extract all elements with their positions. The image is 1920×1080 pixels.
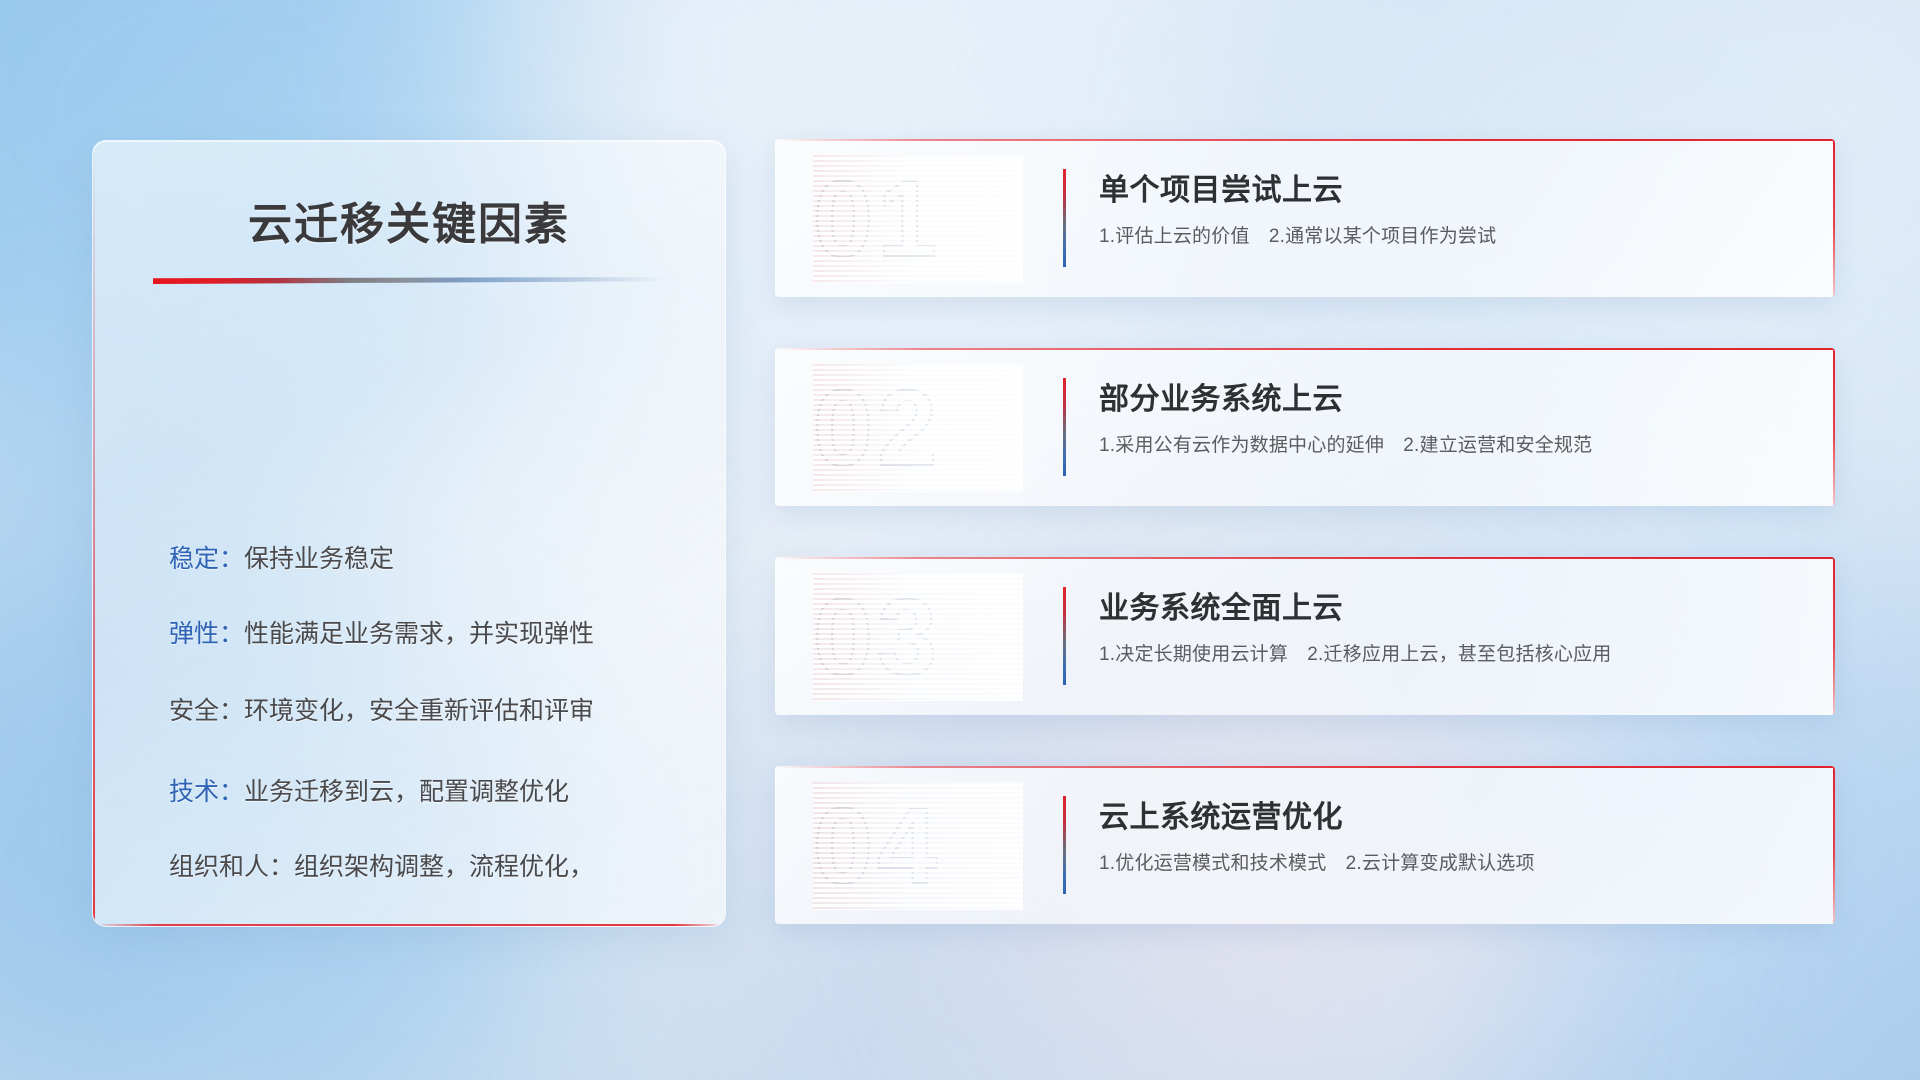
factor-row: 安全：环境变化，安全重新评估和评审 bbox=[169, 691, 689, 727]
card-top-edge bbox=[775, 557, 1835, 559]
factor-label: 组织和人： bbox=[169, 853, 294, 881]
step-title: 部分业务系统上云 bbox=[1099, 374, 1343, 418]
step-card[interactable]: 04 云上系统运营优化 1.优化运营模式和技术模式 2.云计算变成默认选项 bbox=[775, 766, 1835, 924]
step-number-watermark: 01 bbox=[813, 155, 1023, 283]
key-factors-panel: 云迁移关键因素 稳定：保持业务稳定 弹性：性能满足业务需求，并实现弹性 安全：环… bbox=[92, 140, 726, 927]
card-left-edge bbox=[775, 139, 776, 297]
step-card[interactable]: 03 业务系统全面上云 1.决定长期使用云计算 2.迁移应用上云，甚至包括核心应… bbox=[775, 557, 1835, 715]
page-title: 云迁移关键因素 bbox=[93, 188, 725, 252]
factor-text: 组织架构调整，流程优化， bbox=[294, 853, 594, 881]
card-top-edge bbox=[775, 139, 1835, 141]
title-divider-bar bbox=[153, 277, 665, 284]
slide-canvas: 云迁移关键因素 稳定：保持业务稳定 弹性：性能满足业务需求，并实现弹性 安全：环… bbox=[0, 0, 1920, 1080]
factor-text: 环境变化，安全重新评估和评审 bbox=[244, 697, 594, 725]
step-title: 业务系统全面上云 bbox=[1099, 583, 1343, 627]
step-number-watermark: 02 bbox=[813, 364, 1023, 492]
step-description: 1.采用公有云作为数据中心的延伸 2.建立运营和安全规范 bbox=[1099, 430, 1592, 457]
step-number-watermark: 04 bbox=[813, 782, 1023, 910]
factor-label: 稳定： bbox=[169, 545, 244, 573]
card-left-edge bbox=[775, 557, 776, 715]
card-left-edge bbox=[775, 766, 776, 924]
step-number-text: 02 bbox=[813, 367, 941, 488]
step-description: 1.优化运营模式和技术模式 2.云计算变成默认选项 bbox=[1099, 848, 1535, 875]
card-left-edge bbox=[775, 348, 776, 506]
step-number-watermark: 03 bbox=[813, 573, 1023, 701]
card-right-edge bbox=[1833, 348, 1835, 506]
step-accent-bar bbox=[1063, 169, 1066, 267]
step-accent-bar bbox=[1063, 378, 1066, 476]
step-accent-bar bbox=[1063, 587, 1066, 685]
step-number-text: 03 bbox=[813, 576, 941, 697]
factor-text: 业务迁移到云，配置调整优化 bbox=[244, 778, 569, 806]
step-description: 1.评估上云的价值 2.通常以某个项目作为尝试 bbox=[1099, 221, 1496, 248]
factor-label: 技术： bbox=[169, 778, 244, 806]
card-top-edge bbox=[775, 766, 1835, 768]
step-accent-bar bbox=[1063, 796, 1066, 894]
factor-label: 安全： bbox=[169, 697, 244, 725]
card-right-edge bbox=[1833, 139, 1835, 297]
step-card[interactable]: 01 单个项目尝试上云 1.评估上云的价值 2.通常以某个项目作为尝试 bbox=[775, 139, 1835, 297]
step-title: 云上系统运营优化 bbox=[1099, 792, 1343, 836]
factor-row: 组织和人：组织架构调整，流程优化， bbox=[169, 847, 689, 883]
factor-row: 弹性：性能满足业务需求，并实现弹性 bbox=[169, 614, 689, 650]
step-number-text: 04 bbox=[813, 785, 941, 906]
card-top-edge bbox=[775, 348, 1835, 350]
card-right-edge bbox=[1833, 557, 1835, 715]
factor-row: 稳定：保持业务稳定 bbox=[169, 539, 689, 575]
factor-row: 技术：业务迁移到云，配置调整优化 bbox=[169, 772, 689, 808]
factor-text: 保持业务稳定 bbox=[244, 545, 394, 573]
step-title: 单个项目尝试上云 bbox=[1099, 165, 1343, 209]
card-right-edge bbox=[1833, 766, 1835, 924]
factor-label: 弹性： bbox=[169, 620, 244, 648]
title-divider bbox=[153, 277, 665, 284]
step-number-text: 01 bbox=[813, 158, 941, 279]
factor-row: 人员技能培训 bbox=[169, 922, 689, 927]
step-description: 1.决定长期使用云计算 2.迁移应用上云，甚至包括核心应用 bbox=[1099, 639, 1612, 666]
factor-text: 性能满足业务需求，并实现弹性 bbox=[244, 620, 594, 648]
step-card[interactable]: 02 部分业务系统上云 1.采用公有云作为数据中心的延伸 2.建立运营和安全规范 bbox=[775, 348, 1835, 506]
